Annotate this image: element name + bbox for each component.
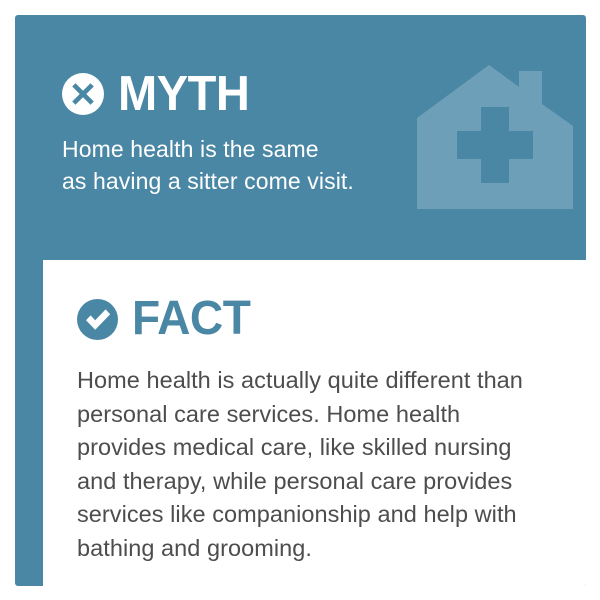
fact-heading: FACT xyxy=(132,293,250,345)
fact-body-line: Home health is actually quite different … xyxy=(77,364,567,398)
infographic-canvas: MYTH Home health is the same as having a… xyxy=(0,0,600,600)
fact-body-line: bathing and grooming. xyxy=(77,532,567,566)
myth-block: MYTH Home health is the same as having a… xyxy=(62,67,462,197)
fact-body-line: services like companionship and help wit… xyxy=(77,498,567,532)
myth-heading: MYTH xyxy=(118,68,249,120)
circle-check-icon xyxy=(77,299,118,340)
fact-heading-row: FACT xyxy=(77,292,563,346)
fact-card: FACT Home health is actually quite diffe… xyxy=(43,260,586,586)
fact-body-line: provides medical care, like skilled nurs… xyxy=(77,431,567,465)
fact-body-text: Home health is actually quite different … xyxy=(77,364,567,565)
circle-x-icon xyxy=(62,73,104,115)
myth-fact-panel: MYTH Home health is the same as having a… xyxy=(15,15,586,586)
myth-heading-row: MYTH xyxy=(62,67,462,121)
fact-body-line: personal care services. Home health xyxy=(77,398,567,432)
myth-body-line: Home health is the same xyxy=(62,133,462,165)
myth-body-text: Home health is the same as having a sitt… xyxy=(62,133,462,197)
fact-block: FACT Home health is actually quite diffe… xyxy=(77,292,563,565)
myth-body-line: as having a sitter come visit. xyxy=(62,165,462,197)
fact-body-line: and therapy, while personal care provide… xyxy=(77,465,567,499)
